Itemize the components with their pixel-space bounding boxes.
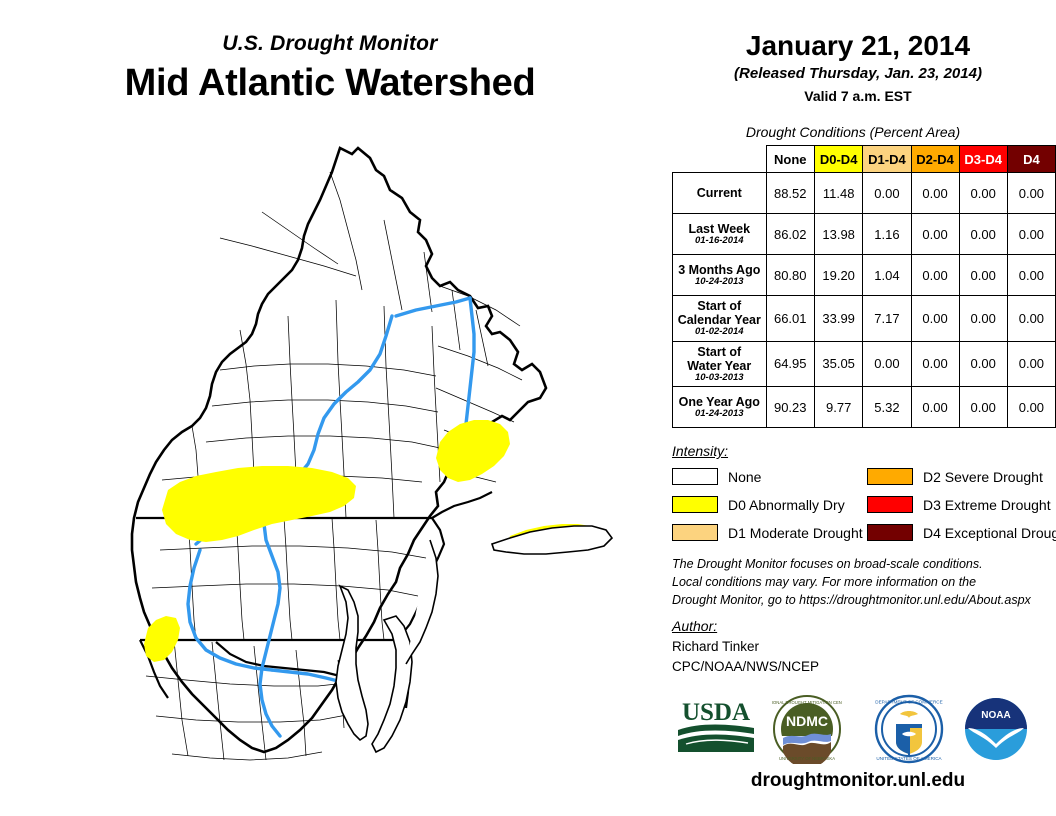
svg-text:UNITED STATES OF AMERICA: UNITED STATES OF AMERICA — [876, 756, 942, 761]
table-cell: 86.02 — [766, 214, 814, 255]
website-url[interactable]: droughtmonitor.unl.edu — [660, 770, 1056, 792]
svg-text:UNIVERSITY OF NEBRASKA: UNIVERSITY OF NEBRASKA — [779, 756, 835, 761]
row-label-line: 3 Months Ago — [674, 263, 765, 277]
svg-text:DEPARTMENT OF COMMERCE: DEPARTMENT OF COMMERCE — [875, 700, 942, 705]
author-label: Author: — [672, 618, 717, 634]
intensity-label: Intensity: — [672, 443, 728, 459]
table-cell: 35.05 — [814, 341, 862, 387]
table-cell: 0.00 — [959, 387, 1007, 428]
release-date: (Released Thursday, Jan. 23, 2014) — [660, 65, 1056, 82]
table-cell: 0.00 — [1007, 173, 1055, 214]
table-cell: 0.00 — [959, 173, 1007, 214]
row-label-line: Start of — [674, 345, 765, 359]
table-cell: 9.77 — [814, 387, 862, 428]
row-label: Last Week01-16-2014 — [673, 214, 767, 255]
author-name: Richard Tinker — [672, 637, 819, 657]
legend-swatch — [672, 496, 718, 513]
ndmc-logo: NDMC NATIONAL DROUGHT MITIGATION CENTER … — [772, 694, 842, 769]
table-cell: 0.00 — [863, 173, 911, 214]
map-panel: U.S. Drought Monitor Mid Atlantic Waters… — [0, 0, 660, 816]
legend-item-d2: D2 Severe Drought — [867, 468, 1043, 485]
page-title: Mid Atlantic Watershed — [0, 62, 660, 105]
commerce-seal: DEPARTMENT OF COMMERCE UNITED STATES OF … — [874, 694, 944, 769]
table-cell: 0.00 — [1007, 214, 1055, 255]
table-cell: 0.00 — [911, 296, 959, 342]
row-label-date: 10-03-2013 — [674, 373, 765, 384]
table-cell: 0.00 — [911, 255, 959, 296]
row-label: One Year Ago01-24-2013 — [673, 387, 767, 428]
column-header-d2-d4: D2-D4 — [911, 146, 959, 173]
svg-text:NOAA: NOAA — [981, 710, 1010, 721]
author-affiliation: CPC/NOAA/NWS/NCEP — [672, 657, 819, 677]
column-header-none: None — [766, 146, 814, 173]
note-line-2: Local conditions may vary. For more info… — [672, 573, 1052, 591]
agency-logos: USDA NDMC NATIONAL DROUGHT MITIGATION CE… — [660, 694, 1056, 766]
legend-label: D1 Moderate Drought — [728, 525, 863, 541]
nj-coast — [406, 540, 438, 664]
legend-label: D4 Exceptional Drought — [923, 525, 1056, 541]
legend-swatch — [867, 468, 913, 485]
drought-conditions-table: NoneD0-D4D1-D4D2-D4D3-D4D4 Current88.521… — [672, 145, 1056, 428]
page-subtitle: U.S. Drought Monitor — [0, 32, 660, 56]
table-cell: 66.01 — [766, 296, 814, 342]
long-island-coast — [492, 526, 612, 554]
svg-text:USDA: USDA — [682, 699, 750, 726]
table-corner-blank — [673, 146, 767, 173]
row-label-line: Current — [674, 186, 765, 200]
table-row: Start ofWater Year10-03-201364.9535.050.… — [673, 341, 1056, 387]
legend-item-d4: D4 Exceptional Drought — [867, 524, 1056, 541]
table-cell: 90.23 — [766, 387, 814, 428]
table-cell: 1.16 — [863, 214, 911, 255]
table-cell: 0.00 — [959, 255, 1007, 296]
legend-label: D3 Extreme Drought — [923, 497, 1051, 513]
disclaimer-note: The Drought Monitor focuses on broad-sca… — [672, 555, 1052, 609]
legend-label: D0 Abnormally Dry — [728, 497, 845, 513]
legend-swatch — [672, 468, 718, 485]
column-header-d3-d4: D3-D4 — [959, 146, 1007, 173]
table-cell: 0.00 — [959, 341, 1007, 387]
table-cell: 0.00 — [911, 214, 959, 255]
table-cell: 0.00 — [1007, 255, 1055, 296]
legend-label: D2 Severe Drought — [923, 469, 1043, 485]
table-cell: 5.32 — [863, 387, 911, 428]
table-cell: 64.95 — [766, 341, 814, 387]
legend-swatch — [867, 524, 913, 541]
note-line-3: Drought Monitor, go to https://droughtmo… — [672, 591, 1052, 609]
legend-label: None — [728, 469, 761, 485]
row-label-date: 01-16-2014 — [674, 236, 765, 247]
svg-text:NDMC: NDMC — [786, 713, 828, 729]
row-label: 3 Months Ago10-24-2013 — [673, 255, 767, 296]
row-label-line: One Year Ago — [674, 395, 765, 409]
legend-swatch — [672, 524, 718, 541]
legend-item-d0: D0 Abnormally Dry — [672, 496, 845, 513]
table-cell: 0.00 — [911, 341, 959, 387]
table-cell: 80.80 — [766, 255, 814, 296]
svg-text:NATIONAL DROUGHT MITIGATION CE: NATIONAL DROUGHT MITIGATION CENTER — [772, 700, 842, 705]
valid-time: Valid 7 a.m. EST — [660, 88, 1056, 104]
row-label: Start ofWater Year10-03-2013 — [673, 341, 767, 387]
row-label: Current — [673, 173, 767, 214]
table-cell: 11.48 — [814, 173, 862, 214]
table-row: Last Week01-16-201486.0213.981.160.000.0… — [673, 214, 1056, 255]
row-label: Start ofCalendar Year01-02-2014 — [673, 296, 767, 342]
table-cell: 0.00 — [959, 296, 1007, 342]
row-label-date: 10-24-2013 — [674, 277, 765, 288]
table-cell: 1.04 — [863, 255, 911, 296]
row-label-line: Start of — [674, 299, 765, 313]
table-cell: 0.00 — [911, 387, 959, 428]
table-cell: 0.00 — [1007, 296, 1055, 342]
author-info: Richard Tinker CPC/NOAA/NWS/NCEP — [672, 637, 819, 676]
info-panel: January 21, 2014 (Released Thursday, Jan… — [660, 0, 1056, 816]
table-caption: Drought Conditions (Percent Area) — [660, 124, 1046, 140]
column-header-d1-d4: D1-D4 — [863, 146, 911, 173]
table-row: Current88.5211.480.000.000.000.00 — [673, 173, 1056, 214]
delmarva-peninsula — [372, 616, 412, 752]
table-cell: 19.20 — [814, 255, 862, 296]
row-label-line: Last Week — [674, 222, 765, 236]
table-row: 3 Months Ago10-24-201380.8019.201.040.00… — [673, 255, 1056, 296]
note-line-1: The Drought Monitor focuses on broad-sca… — [672, 555, 1052, 573]
legend-item-none: None — [672, 468, 761, 485]
noaa-logo: NOAA — [960, 694, 1032, 769]
table-row: Start ofCalendar Year01-02-201466.0133.9… — [673, 296, 1056, 342]
legend-item-d1: D1 Moderate Drought — [672, 524, 863, 541]
table-cell: 0.00 — [911, 173, 959, 214]
legend-item-d3: D3 Extreme Drought — [867, 496, 1051, 513]
column-header-d0-d4: D0-D4 — [814, 146, 862, 173]
usda-logo: USDA — [672, 694, 760, 763]
table-header-row: NoneD0-D4D1-D4D2-D4D3-D4D4 — [673, 146, 1056, 173]
table-cell: 33.99 — [814, 296, 862, 342]
table-cell: 13.98 — [814, 214, 862, 255]
table-cell: 0.00 — [1007, 341, 1055, 387]
row-label-line: Calendar Year — [674, 313, 765, 327]
table-cell: 0.00 — [1007, 387, 1055, 428]
legend-swatch — [867, 496, 913, 513]
row-label-line: Water Year — [674, 359, 765, 373]
table-cell: 0.00 — [959, 214, 1007, 255]
row-label-date: 01-02-2014 — [674, 327, 765, 338]
table-row: One Year Ago01-24-201390.239.775.320.000… — [673, 387, 1056, 428]
row-label-date: 01-24-2013 — [674, 409, 765, 420]
table-cell: 7.17 — [863, 296, 911, 342]
report-date: January 21, 2014 — [660, 30, 1056, 62]
table-cell: 0.00 — [863, 341, 911, 387]
column-header-d4: D4 — [1007, 146, 1055, 173]
table-cell: 88.52 — [766, 173, 814, 214]
drought-map[interactable] — [40, 120, 640, 800]
